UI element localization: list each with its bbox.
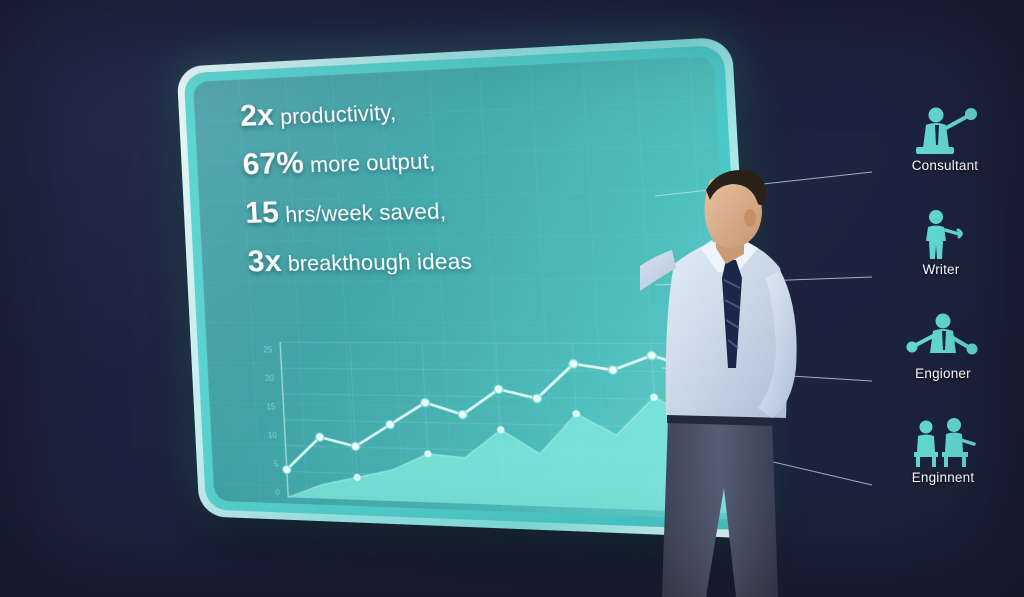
svg-text:10: 10	[268, 431, 278, 440]
svg-text:5: 5	[274, 459, 280, 468]
presenter-ear	[744, 209, 756, 227]
role-item-engineer[interactable]: Engioner	[878, 312, 1008, 381]
presenter-trousers	[662, 418, 778, 597]
stat-number: 67%	[242, 146, 305, 182]
role-item-writer[interactable]: Writer	[876, 208, 1006, 277]
stat-text: productivity,	[280, 101, 397, 130]
meeting-icon	[904, 416, 982, 468]
stat-number: 15	[244, 196, 280, 230]
role-label: Engioner	[878, 366, 1008, 381]
svg-text:0: 0	[275, 488, 281, 497]
stat-text: breaktһough ideas	[287, 250, 472, 276]
stat-item: 67%more output,	[242, 134, 703, 181]
writer-icon	[902, 208, 980, 260]
stat-item: 2xproductivity,	[239, 81, 699, 132]
presenter-figure	[640, 168, 850, 597]
role-item-consultant[interactable]: Consultant	[880, 104, 1010, 173]
stat-number: 2x	[239, 98, 274, 133]
stat-number: 3x	[247, 245, 283, 279]
scene: 2xproductivity, 67%more output, 15hrs/we…	[0, 0, 1024, 597]
role-label: Writer	[876, 262, 1006, 277]
role-label: Consultant	[880, 158, 1010, 173]
presenter	[640, 168, 850, 597]
chart-y-tick-labels: 2520151050	[263, 345, 280, 497]
svg-text:20: 20	[265, 374, 275, 383]
engineer-icon	[904, 312, 982, 364]
consultant-icon	[906, 104, 984, 156]
role-item-meeting[interactable]: Enginnent	[878, 416, 1008, 485]
stat-item: 15hrs/week saved,	[244, 187, 705, 229]
stat-text: more output,	[309, 149, 436, 177]
role-label: Enginnent	[878, 470, 1008, 485]
svg-text:25: 25	[263, 345, 273, 354]
stat-text: hrs/week saved,	[285, 200, 447, 227]
svg-text:15: 15	[266, 402, 276, 411]
